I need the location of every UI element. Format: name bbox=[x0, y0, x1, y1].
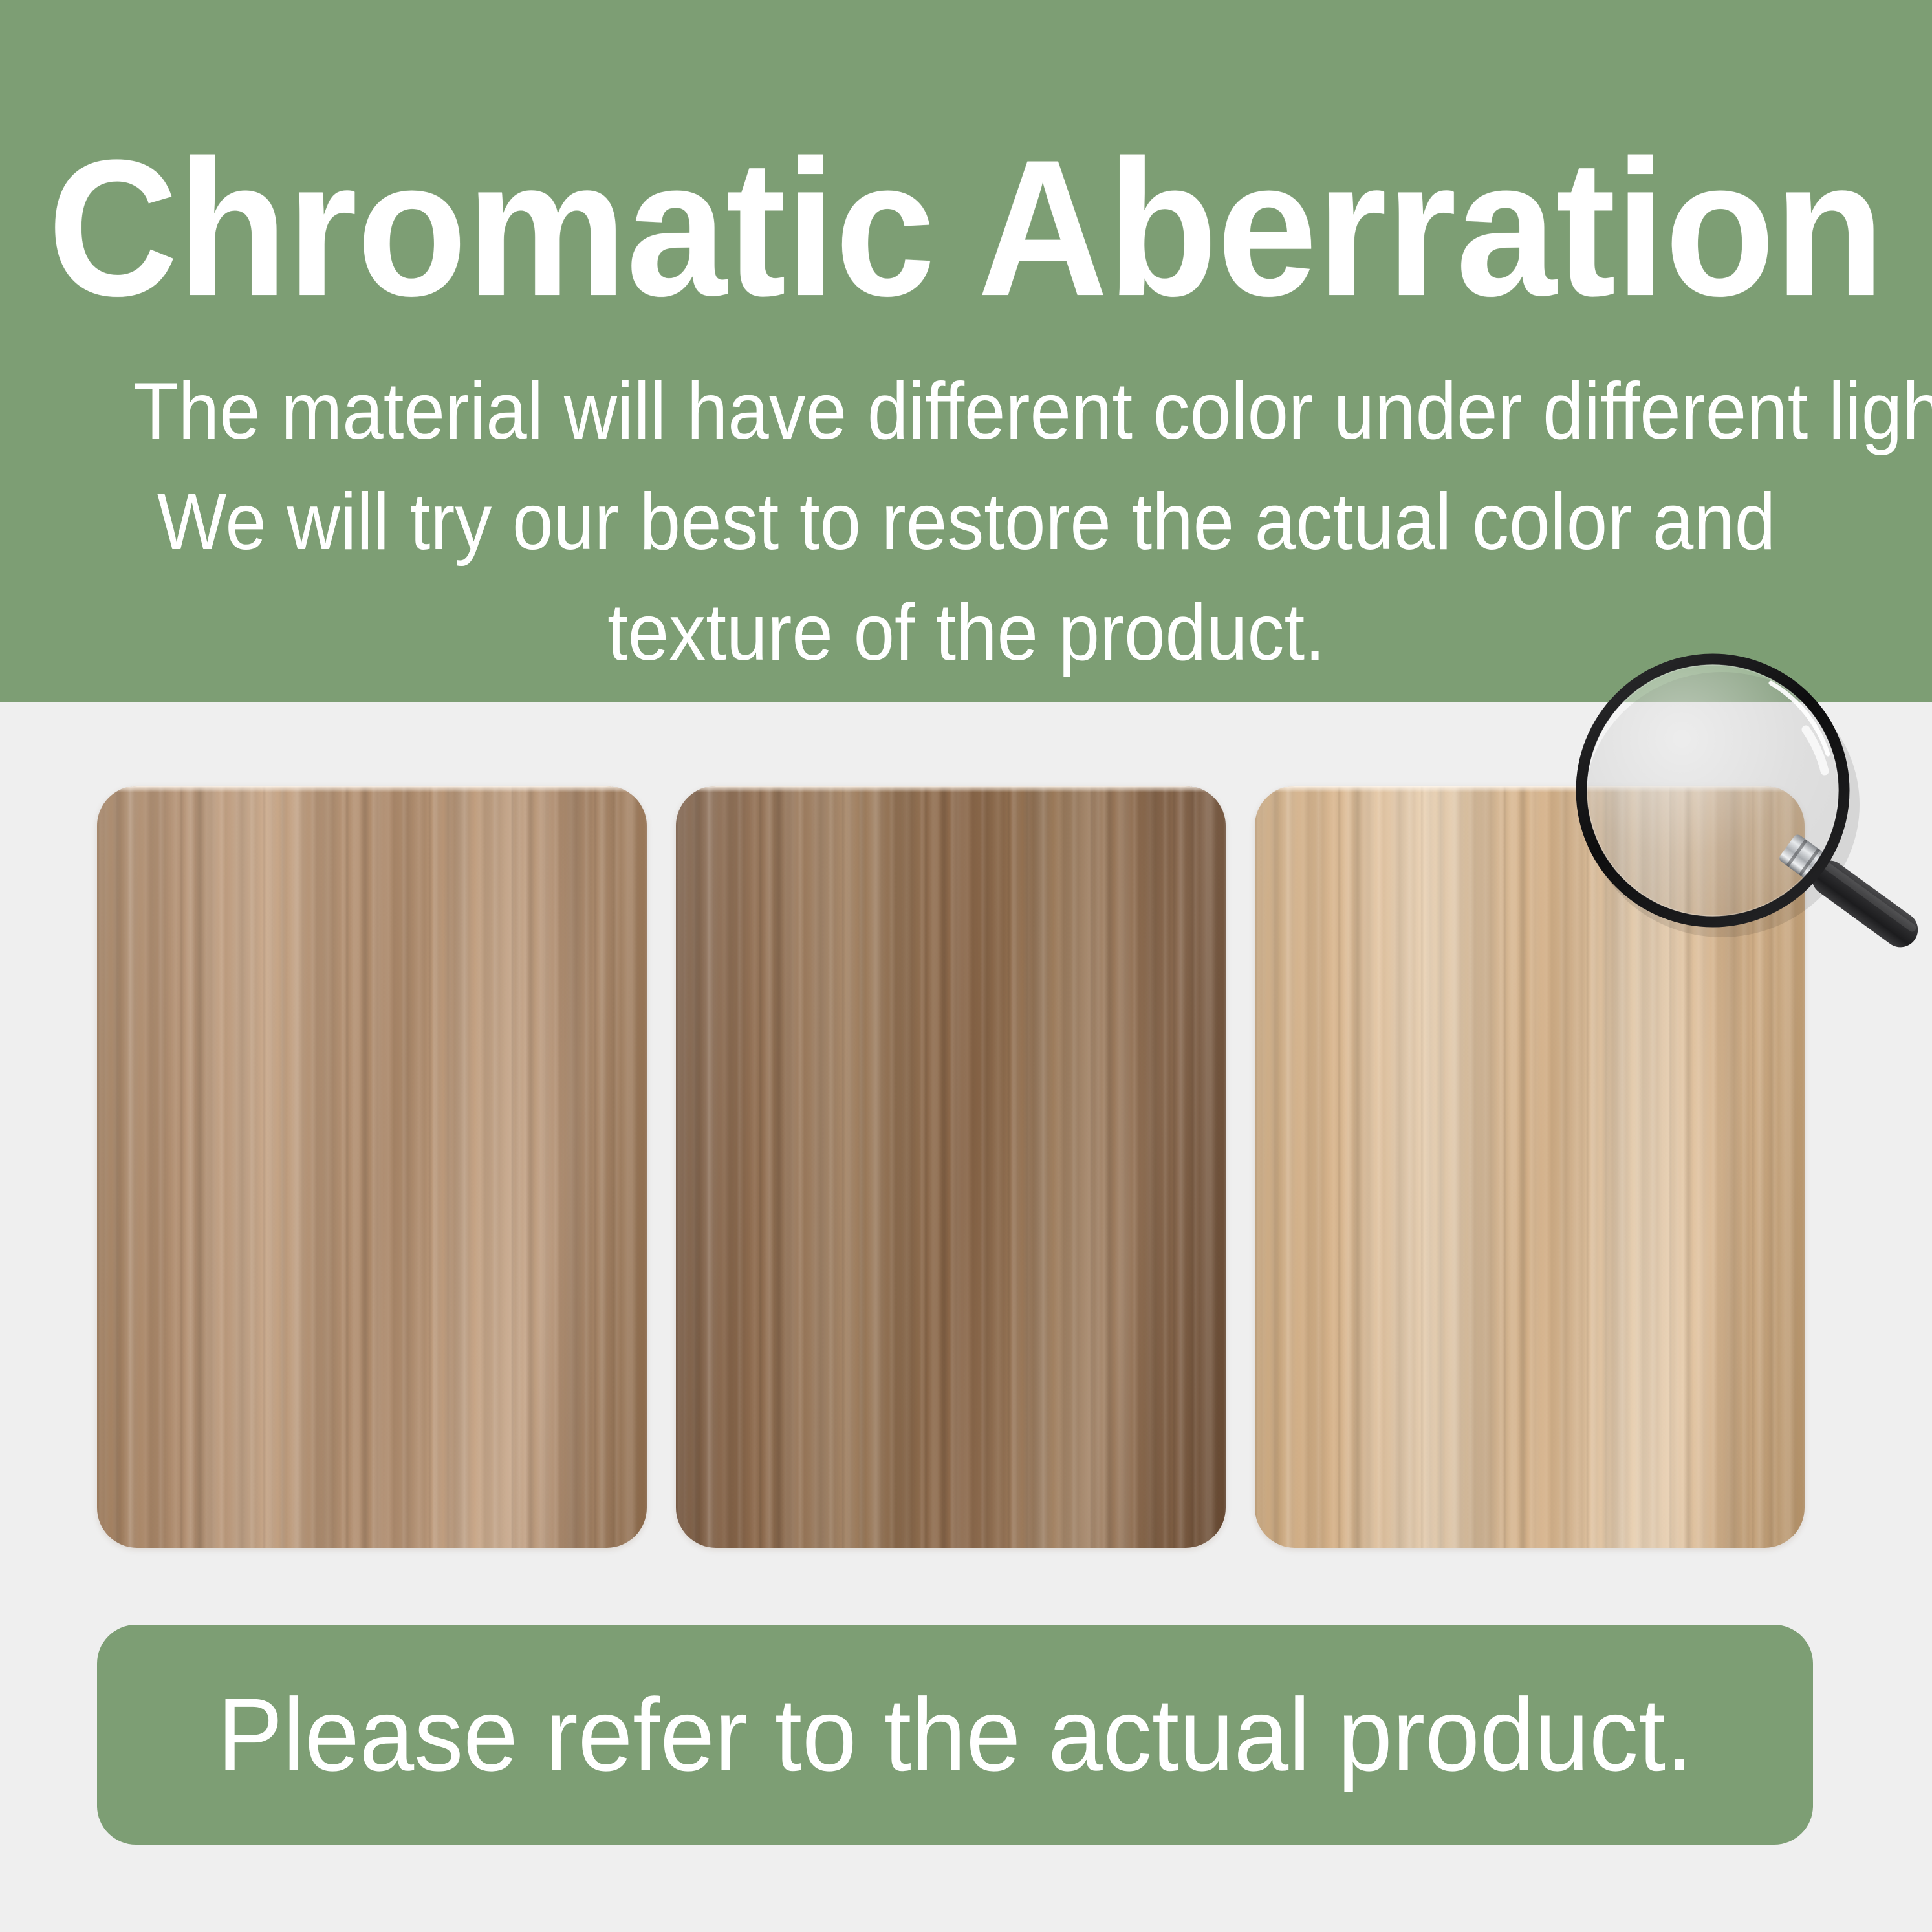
wood-edge-highlight bbox=[1255, 786, 1805, 792]
page-title: Chromatic Aberration bbox=[48, 133, 1884, 323]
wood-sample-panel-2[interactable] bbox=[676, 786, 1226, 1548]
wood-edge-highlight bbox=[97, 786, 647, 792]
wood-sheen-overlay bbox=[676, 786, 1226, 1548]
wood-edge-highlight bbox=[676, 786, 1226, 792]
subtitle-line-1: The material will have different color u… bbox=[133, 356, 1799, 467]
subtitle-line-3: texture of the product. bbox=[133, 578, 1799, 688]
banner-subtitle: The material will have different color u… bbox=[133, 356, 1799, 688]
promo-graphic-canvas: Chromatic Aberration The material will h… bbox=[0, 0, 1932, 1932]
wood-sheen-overlay bbox=[97, 786, 647, 1548]
magnifier-handle bbox=[1805, 854, 1924, 954]
header-banner: Chromatic Aberration The material will h… bbox=[0, 0, 1932, 702]
wood-sheen-overlay bbox=[1255, 786, 1805, 1548]
cta-banner[interactable]: Please refer to the actual product. bbox=[97, 1625, 1813, 1845]
subtitle-line-2: We will try our best to restore the actu… bbox=[133, 467, 1799, 578]
wood-sample-panel-3[interactable] bbox=[1255, 786, 1805, 1548]
magnifier-highlight bbox=[1806, 730, 1825, 771]
cta-label: Please refer to the actual product. bbox=[217, 1683, 1693, 1786]
wood-sample-gallery bbox=[97, 786, 1805, 1548]
wood-sample-panel-1[interactable] bbox=[97, 786, 647, 1548]
